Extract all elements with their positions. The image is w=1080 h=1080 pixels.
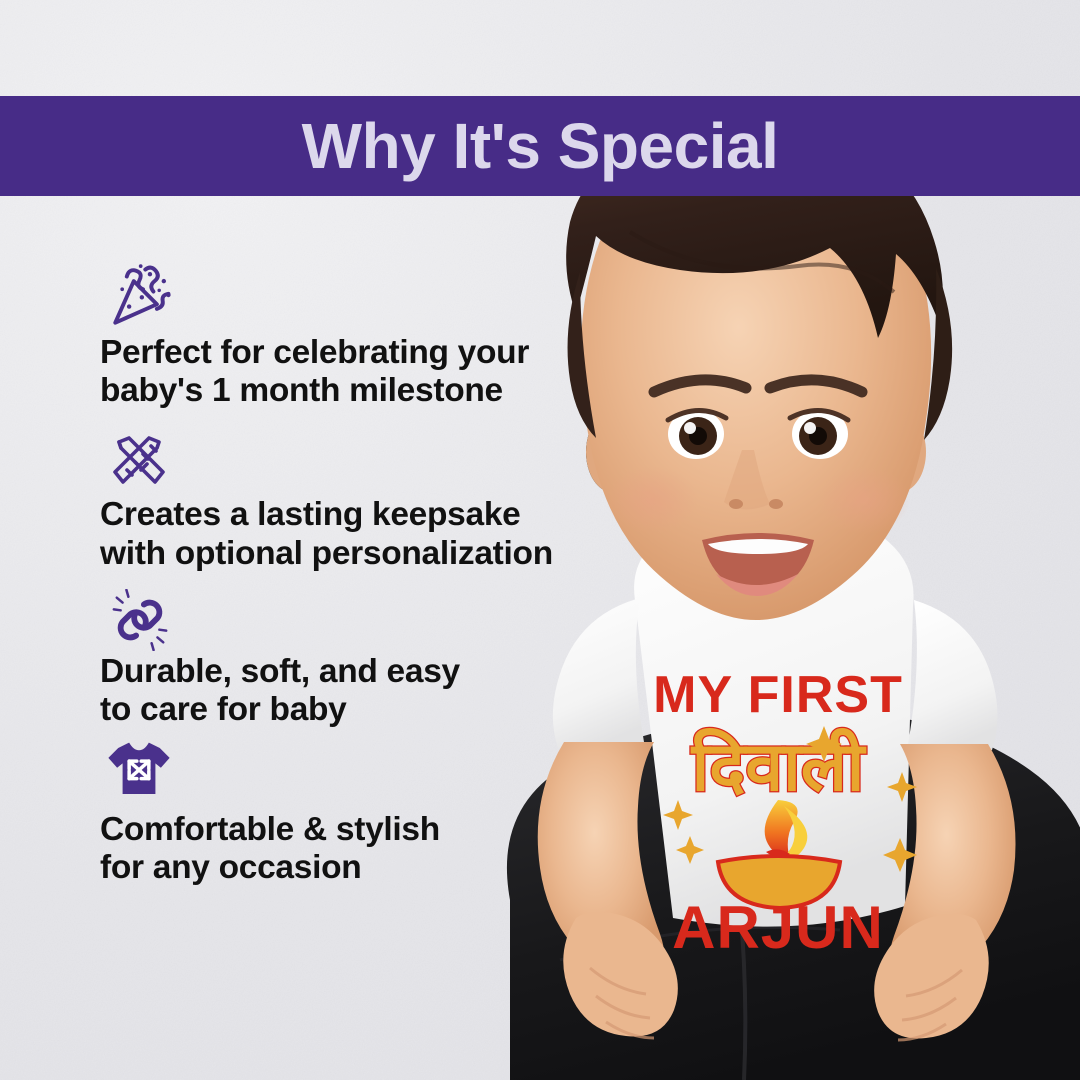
baby-left-hand	[563, 912, 678, 1037]
tshirt-stretch-icon	[104, 733, 174, 809]
print-line1: MY FIRST	[653, 666, 903, 724]
baby-right-hand	[874, 914, 989, 1039]
header-banner: Why It's Special	[0, 96, 1080, 196]
pencil-ruler-icon	[104, 430, 174, 494]
baby-shirt	[634, 502, 914, 927]
print-line2: दिवाली	[690, 728, 867, 805]
baby-eyes	[668, 409, 848, 459]
print-name: ARJUN	[672, 894, 884, 961]
feature-label: Creates a lasting keepsake with optional…	[100, 496, 640, 572]
feature-label: Durable, soft, and easy to care for baby	[100, 653, 640, 729]
feature-list: Perfect for celebrating your baby's 1 mo…	[100, 258, 640, 904]
print-sparkles	[663, 726, 917, 872]
feature-label: Comfortable & stylish for any occasion	[100, 811, 640, 887]
shirt-print: MY FIRST दिवाली ARJUN	[653, 666, 917, 961]
diya-lamp-icon	[718, 800, 840, 908]
feature-label: Perfect for celebrating your baby's 1 mo…	[100, 334, 640, 410]
feature-item-comfortable: Comfortable & stylish for any occasion	[100, 733, 640, 887]
chain-link-icon	[104, 589, 176, 651]
page-title: Why It's Special	[302, 114, 779, 178]
poster-canvas: MY FIRST दिवाली ARJUN	[0, 0, 1080, 1080]
feature-item-keepsake: Creates a lasting keepsake with optional…	[100, 430, 640, 572]
party-popper-icon	[104, 258, 182, 332]
feature-item-celebration: Perfect for celebrating your baby's 1 mo…	[100, 258, 640, 410]
feature-item-durable: Durable, soft, and easy to care for baby	[100, 589, 640, 729]
